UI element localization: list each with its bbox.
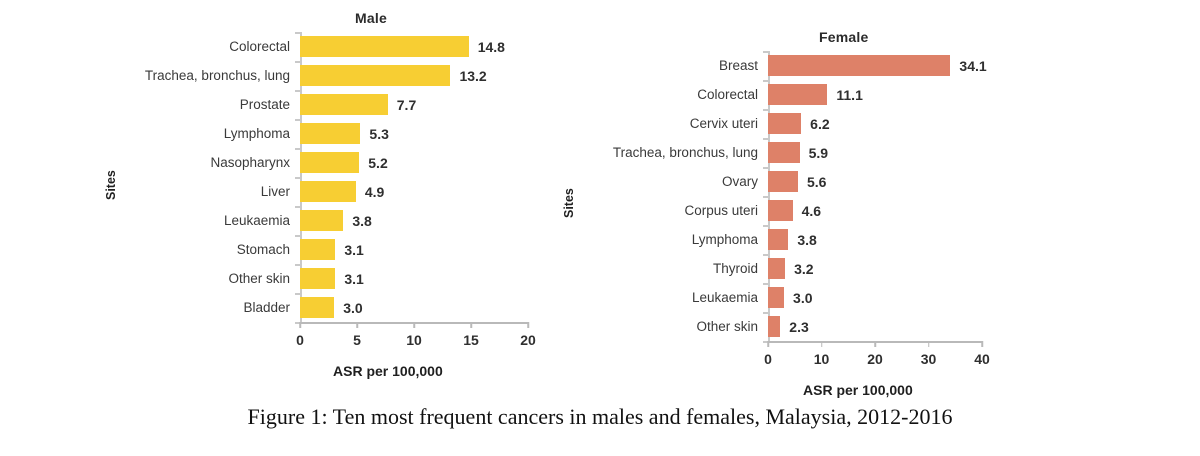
figure-caption: Figure 1: Ten most frequent cancers in m… xyxy=(0,404,1200,430)
bar-track: 11.1 xyxy=(768,80,1048,109)
category-label: Prostate xyxy=(90,98,300,112)
x-tick-label: 10 xyxy=(406,332,422,348)
bar-track: 4.9 xyxy=(300,177,560,206)
bar-value-label: 3.8 xyxy=(352,214,371,228)
bar-track: 5.3 xyxy=(300,119,560,148)
bar-value-label: 7.7 xyxy=(397,98,416,112)
chart-title-male: Male xyxy=(355,10,387,26)
bar xyxy=(768,55,950,76)
category-label: Colorectal xyxy=(90,40,300,54)
bar-value-label: 3.0 xyxy=(343,301,362,315)
bar-track: 5.9 xyxy=(768,138,1048,167)
chart-panel-male: Male Sites Colorectal14.8Trachea, bronch… xyxy=(90,0,560,392)
bar-value-label: 4.6 xyxy=(802,204,821,218)
bar-row: Colorectal11.1 xyxy=(548,80,1048,109)
category-label: Liver xyxy=(90,185,300,199)
bar-value-label: 13.2 xyxy=(459,69,486,83)
x-tick-label: 30 xyxy=(921,351,937,367)
bar xyxy=(300,36,469,57)
x-tick-label: 0 xyxy=(296,332,304,348)
bar xyxy=(768,200,793,221)
x-tick xyxy=(981,341,983,347)
x-tick xyxy=(874,341,876,347)
bar xyxy=(300,94,388,115)
bar xyxy=(768,316,780,337)
x-tick-label: 15 xyxy=(463,332,479,348)
bar-row: Stomach3.1 xyxy=(90,235,560,264)
x-axis-male: 05101520 xyxy=(300,322,528,364)
category-label: Other skin xyxy=(548,320,768,334)
bar-value-label: 3.0 xyxy=(793,291,812,305)
bar-value-label: 2.3 xyxy=(789,320,808,334)
category-label: Lymphoma xyxy=(548,233,768,247)
x-tick xyxy=(527,322,529,328)
category-label: Colorectal xyxy=(548,88,768,102)
x-tick-label: 10 xyxy=(814,351,830,367)
bar xyxy=(300,268,335,289)
x-axis-title-male: ASR per 100,000 xyxy=(333,363,443,379)
bar-value-label: 5.6 xyxy=(807,175,826,189)
category-label: Trachea, bronchus, lung xyxy=(548,146,768,160)
bar xyxy=(768,229,788,250)
bar xyxy=(768,287,784,308)
bar-row: Nasopharynx5.2 xyxy=(90,148,560,177)
bar-track: 4.6 xyxy=(768,196,1048,225)
bar-value-label: 3.2 xyxy=(794,262,813,276)
bar-value-label: 3.1 xyxy=(344,243,363,257)
bar-row: Prostate7.7 xyxy=(90,90,560,119)
bar-row: Colorectal14.8 xyxy=(90,32,560,61)
bar-row: Ovary5.6 xyxy=(548,167,1048,196)
bar xyxy=(300,152,359,173)
x-tick xyxy=(767,341,769,347)
x-tick-label: 0 xyxy=(764,351,772,367)
bar-track: 2.3 xyxy=(768,312,1048,341)
x-tick-label: 20 xyxy=(867,351,883,367)
bar xyxy=(768,84,827,105)
bar-track: 3.0 xyxy=(768,283,1048,312)
bar-track: 3.8 xyxy=(768,225,1048,254)
category-label: Corpus uteri xyxy=(548,204,768,218)
bar-value-label: 14.8 xyxy=(478,40,505,54)
bar-value-label: 3.8 xyxy=(797,233,816,247)
bar-track: 3.8 xyxy=(300,206,560,235)
figure-container: Male Sites Colorectal14.8Trachea, bronch… xyxy=(0,0,1200,456)
bar-track: 5.2 xyxy=(300,148,560,177)
x-axis-female: 010203040 xyxy=(768,341,982,383)
bar-track: 7.7 xyxy=(300,90,560,119)
category-label: Thyroid xyxy=(548,262,768,276)
bar-track: 34.1 xyxy=(768,51,1048,80)
bar-value-label: 3.1 xyxy=(344,272,363,286)
category-label: Bladder xyxy=(90,301,300,315)
x-axis-title-female: ASR per 100,000 xyxy=(803,382,913,398)
bar-row: Leukaemia3.0 xyxy=(548,283,1048,312)
bar-value-label: 5.3 xyxy=(369,127,388,141)
chart-title-female: Female xyxy=(819,29,868,45)
category-label: Ovary xyxy=(548,175,768,189)
category-label: Leukaemia xyxy=(548,291,768,305)
bar xyxy=(300,181,356,202)
bar-value-label: 4.9 xyxy=(365,185,384,199)
bar-value-label: 5.9 xyxy=(809,146,828,160)
bar xyxy=(768,258,785,279)
bar-row: Other skin2.3 xyxy=(548,312,1048,341)
bar-track: 13.2 xyxy=(300,61,560,90)
bar xyxy=(300,65,450,86)
bar-row: Bladder3.0 xyxy=(90,293,560,322)
bar-row: Other skin3.1 xyxy=(90,264,560,293)
bar-row: Trachea, bronchus, lung13.2 xyxy=(90,61,560,90)
category-label: Cervix uteri xyxy=(548,117,768,131)
bar-value-label: 34.1 xyxy=(959,59,986,73)
bar-track: 5.6 xyxy=(768,167,1048,196)
category-label: Other skin xyxy=(90,272,300,286)
bar-row: Thyroid3.2 xyxy=(548,254,1048,283)
category-label: Breast xyxy=(548,59,768,73)
x-tick xyxy=(299,322,301,328)
bar-track: 3.1 xyxy=(300,264,560,293)
bar-row: Lymphoma5.3 xyxy=(90,119,560,148)
bar-row: Liver4.9 xyxy=(90,177,560,206)
bar xyxy=(300,239,335,260)
x-tick xyxy=(928,341,930,347)
bar xyxy=(768,142,800,163)
bar-row: Lymphoma3.8 xyxy=(548,225,1048,254)
bar-value-label: 5.2 xyxy=(368,156,387,170)
bar-track: 14.8 xyxy=(300,32,560,61)
x-tick-label: 40 xyxy=(974,351,990,367)
bar-value-label: 11.1 xyxy=(836,88,862,102)
bar-track: 6.2 xyxy=(768,109,1048,138)
bar-row: Leukaemia3.8 xyxy=(90,206,560,235)
category-label: Nasopharynx xyxy=(90,156,300,170)
bar-row: Corpus uteri4.6 xyxy=(548,196,1048,225)
x-tick xyxy=(413,322,415,328)
category-label: Stomach xyxy=(90,243,300,257)
x-tick xyxy=(470,322,472,328)
bar-value-label: 6.2 xyxy=(810,117,829,131)
bar xyxy=(768,113,801,134)
x-tick-label: 5 xyxy=(353,332,361,348)
category-label: Lymphoma xyxy=(90,127,300,141)
bar xyxy=(768,171,798,192)
x-tick xyxy=(821,341,823,347)
x-tick xyxy=(356,322,358,328)
category-label: Leukaemia xyxy=(90,214,300,228)
bar-rows-female: Breast34.1Colorectal11.1Cervix uteri6.2T… xyxy=(548,51,1048,341)
bar xyxy=(300,210,343,231)
category-label: Trachea, bronchus, lung xyxy=(90,69,300,83)
bar-track: 3.1 xyxy=(300,235,560,264)
bar-row: Trachea, bronchus, lung5.9 xyxy=(548,138,1048,167)
bar-track: 3.0 xyxy=(300,293,560,322)
bar-row: Cervix uteri6.2 xyxy=(548,109,1048,138)
x-tick-label: 20 xyxy=(520,332,536,348)
bar-row: Breast34.1 xyxy=(548,51,1048,80)
bar-track: 3.2 xyxy=(768,254,1048,283)
bar xyxy=(300,123,360,144)
bar xyxy=(300,297,334,318)
bar-rows-male: Colorectal14.8Trachea, bronchus, lung13.… xyxy=(90,32,560,322)
chart-panel-female: Female Sites Breast34.1Colorectal11.1Cer… xyxy=(548,0,1048,392)
